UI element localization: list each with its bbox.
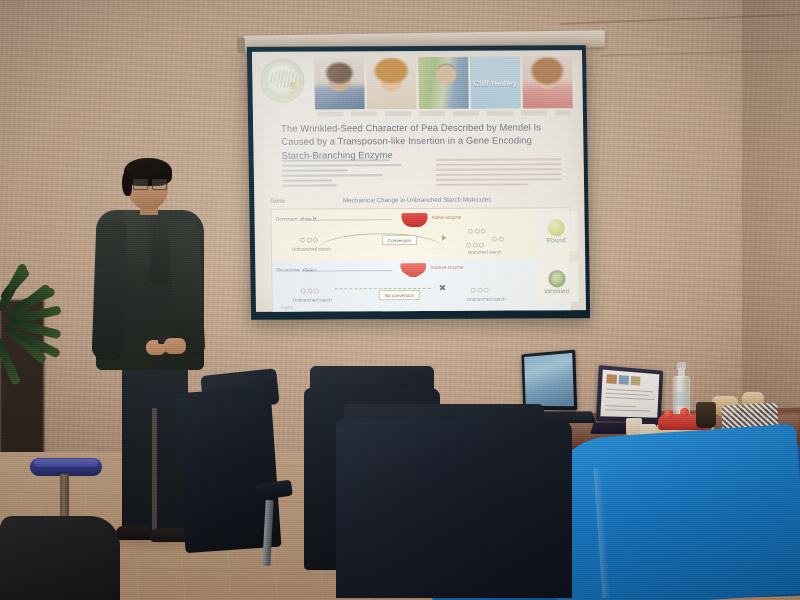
starch-bead	[314, 289, 319, 294]
portrait-photo-5	[522, 56, 573, 108]
portrait-name-label: Cliff Hedley	[474, 78, 518, 87]
presentation-room-photo: Cliff Hedley The Wrinkled-Seed Character…	[0, 0, 800, 600]
presenter-leg-gap	[152, 408, 157, 532]
bottle-label	[673, 392, 690, 406]
potted-plant	[0, 286, 94, 416]
institution-seal-logo	[260, 59, 305, 103]
starch-chain-right-c	[466, 243, 484, 248]
text-line	[282, 179, 332, 181]
outcome-label-wrinkled: Wrinkled	[544, 288, 569, 295]
starch-chain-left	[300, 238, 318, 243]
author-list-column	[282, 159, 409, 194]
slide-title: The Wrinkled-Seed Character of Pea Descr…	[281, 120, 562, 161]
text-line	[282, 159, 390, 162]
outcome-card-round: Round	[533, 211, 578, 251]
laptop-display	[524, 353, 574, 406]
doc-thumb	[631, 376, 641, 386]
presenter-arm-left	[92, 220, 127, 361]
slide-text-columns	[282, 158, 563, 193]
gene-rule-line	[306, 219, 392, 220]
starch-chain-right	[471, 288, 489, 293]
blue-table-cover-secondary	[546, 423, 800, 600]
screen-mount-bracket	[237, 38, 245, 53]
diagram-header-row: Gene Mechanical Change in Unbranched Sta…	[264, 196, 574, 207]
starch-chain-right-a	[468, 229, 486, 234]
outcome-label-round: Round	[546, 237, 565, 244]
doc-thumb	[619, 375, 629, 385]
dark-jar	[696, 402, 716, 428]
starch-label-left: Unbranched starch	[293, 297, 332, 302]
text-line	[436, 178, 562, 181]
gene-rule-line	[306, 270, 392, 271]
starch-branching-diagram: Gene Mechanical Change in Unbranched Sta…	[264, 196, 576, 304]
outcome-card-wrinkled: Wrinkled	[534, 262, 579, 302]
starch-bead	[300, 238, 305, 243]
diagram-mechanism-header: Mechanical Change in Unbranched Starch M…	[343, 197, 492, 205]
foreground-object	[0, 516, 120, 600]
starch-label-right: Unbranched starch	[467, 297, 506, 302]
starch-bead	[307, 289, 312, 294]
diagram-row-recessive: Recessive allele r Unbranched starch Ina…	[272, 259, 571, 312]
starch-bead	[477, 288, 482, 293]
text-line	[436, 163, 562, 166]
doc-thumb	[606, 374, 617, 384]
portrait-photo-4: Cliff Hedley	[470, 56, 521, 108]
starch-bead	[492, 237, 497, 242]
portrait-photo-3	[418, 57, 469, 109]
starch-bead	[466, 243, 471, 248]
starch-bead	[301, 289, 306, 294]
abstract-column	[436, 158, 563, 193]
text-line	[436, 168, 562, 171]
enzyme-label-active: Active enzyme	[432, 215, 462, 222]
starch-bead	[306, 238, 311, 243]
starch-bead	[472, 243, 477, 248]
starch-bead	[474, 229, 479, 234]
laptop-display	[600, 370, 659, 418]
doc-text-line	[606, 393, 649, 397]
starch-bead	[313, 238, 318, 243]
inactive-enzyme-icon	[400, 263, 426, 277]
document-thumbnails	[606, 374, 640, 386]
starch-bead	[484, 288, 489, 293]
text-line	[436, 158, 562, 161]
text-line	[282, 184, 337, 186]
chair-backrest	[336, 418, 572, 598]
seal-dot-icon	[288, 82, 296, 90]
starch-bead	[468, 229, 473, 234]
eyeglasses-icon	[133, 179, 167, 188]
text-line	[282, 164, 402, 167]
active-enzyme-icon	[401, 213, 427, 227]
presentation-slide: Cliff Hedley The Wrinkled-Seed Character…	[252, 50, 586, 312]
portrait-photo-1	[314, 57, 365, 109]
chair-armrest	[255, 480, 293, 501]
chair-left[interactable]	[172, 372, 292, 582]
chair-front[interactable]	[336, 418, 572, 600]
starch-chain-left	[301, 289, 319, 294]
diagram-gene-header: Gene	[270, 199, 285, 205]
starch-bead	[498, 237, 503, 242]
presenter-hair-side	[122, 170, 132, 196]
conversion-arrow-head	[442, 235, 447, 241]
presenter-hand-right	[164, 338, 186, 354]
starch-bead	[471, 288, 476, 293]
text-line	[436, 173, 562, 176]
blocked-x-icon: ✖	[439, 284, 447, 293]
projection-screen: Cliff Hedley The Wrinkled-Seed Character…	[247, 45, 590, 320]
strawberry	[664, 410, 673, 419]
strawberry	[680, 408, 689, 417]
photo-strip-caption-line	[317, 110, 571, 116]
starch-label-right: Branched starch	[468, 250, 502, 255]
text-line	[436, 183, 529, 185]
diagram-footnote: Figure	[281, 305, 293, 310]
diagram-body: Dominant allele R Unbranched starch Acti…	[270, 207, 572, 312]
starch-bead	[479, 243, 484, 248]
starch-chain-right-b	[492, 237, 504, 242]
text-line	[282, 169, 348, 171]
no-conversion-label-box: No conversion	[379, 290, 421, 300]
pea-wrinkled-icon	[548, 270, 565, 287]
laptop-lid	[521, 350, 577, 411]
enzyme-label-inactive: Inactive enzyme	[430, 265, 463, 272]
doc-text-line	[606, 397, 655, 401]
text-line	[282, 174, 383, 177]
pea-round-icon	[547, 219, 564, 236]
doc-text-line	[605, 405, 635, 408]
portrait-photo-2	[366, 57, 417, 109]
conversion-label-box: Conversion	[382, 235, 417, 245]
doc-text-line	[605, 409, 650, 412]
photo-strip: Cliff Hedley	[314, 56, 573, 109]
starch-bead	[481, 229, 486, 234]
diagram-row-dominant: Dominant allele R Unbranched starch Acti…	[271, 208, 570, 261]
presenter-shoe-left	[116, 526, 154, 540]
